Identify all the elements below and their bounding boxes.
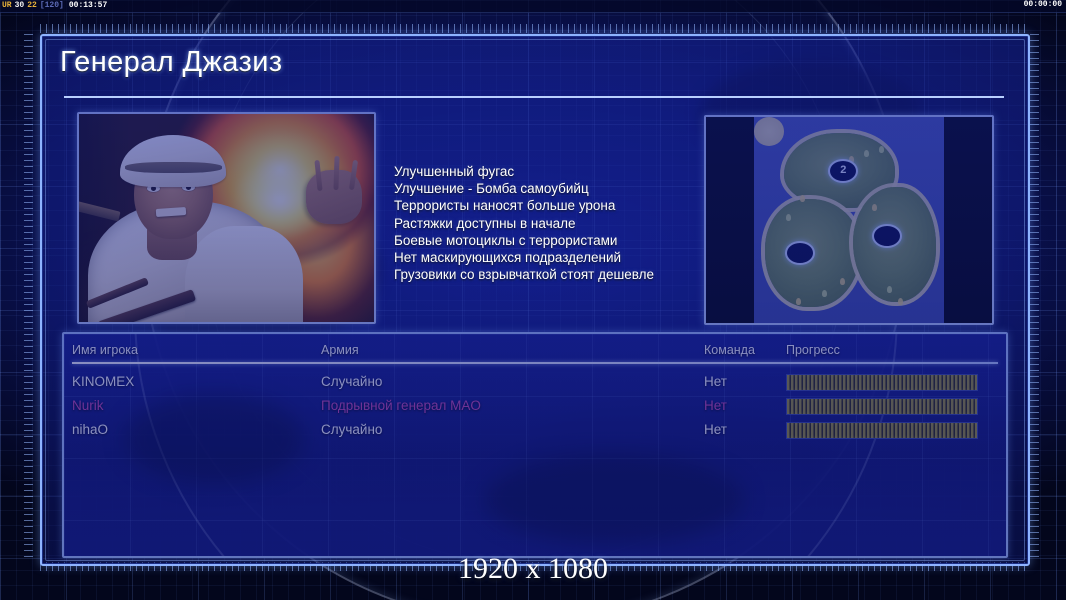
bonus-line: Нет маскирующихся подразделений <box>394 249 694 266</box>
general-bonus-list: Улучшенный фугас Улучшение - Бомба самоу… <box>394 163 694 283</box>
fps-bracket-value: [120] <box>40 2 64 10</box>
lobby-panel <box>40 34 1030 566</box>
ruler-right <box>1030 34 1039 562</box>
ruler-left <box>24 34 33 562</box>
game-lobby-screen: UR 30 22 [120] 00:13:57 00:00:00 Генерал… <box>0 0 1066 600</box>
right-clock: 00:00:00 <box>1024 1 1062 9</box>
top-status-bar: UR 30 22 [120] 00:13:57 00:00:00 <box>0 0 1066 13</box>
session-clock: 00:13:57 <box>69 2 107 10</box>
fps-counter: UR 30 22 [120] 00:13:57 <box>0 2 107 10</box>
fps-ms-value: 22 <box>27 2 37 10</box>
fps-value: 30 <box>15 2 25 10</box>
page-title: Генерал Джазиз <box>60 46 283 79</box>
bonus-line: Улучшение - Бомба самоубийц <box>394 180 694 197</box>
fps-label: UR <box>2 2 12 10</box>
ruler-top <box>40 24 1026 33</box>
bonus-line: Боевые мотоциклы с террористами <box>394 232 694 249</box>
bonus-line: Грузовики со взрывчаткой стоят дешевле <box>394 266 694 283</box>
bonus-line: Улучшенный фугас <box>394 163 694 180</box>
bonus-line: Террористы наносят больше урона <box>394 197 694 214</box>
bonus-line: Растяжки доступны в начале <box>394 215 694 232</box>
resolution-overlay: 1920 x 1080 <box>0 552 1066 586</box>
